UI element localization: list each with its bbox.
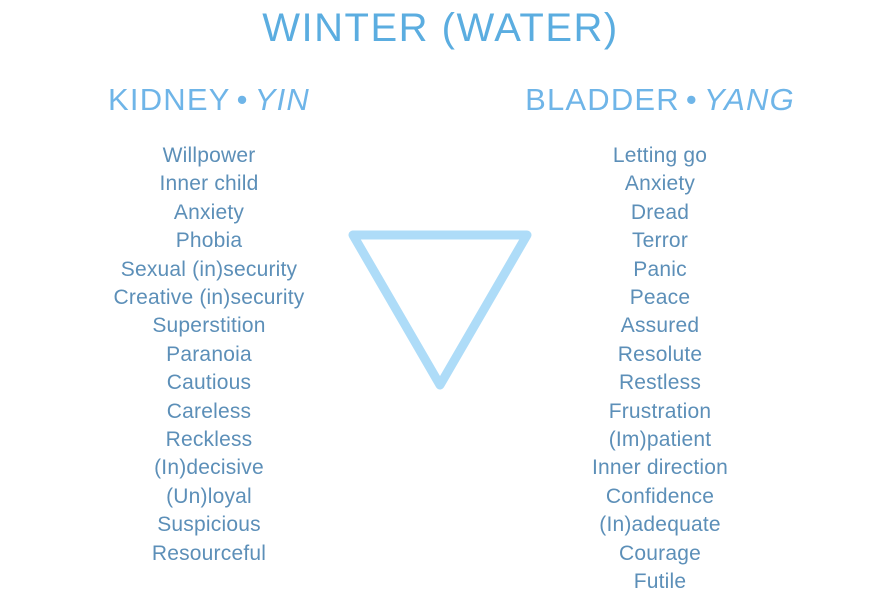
- polarity-label-yin: YIN: [255, 82, 310, 117]
- list-item: Creative (in)security: [59, 284, 359, 312]
- polarity-label-yang: YANG: [704, 82, 795, 117]
- list-item: Suspicious: [59, 511, 359, 539]
- list-item: (In)adequate: [510, 511, 810, 539]
- list-item: Peace: [510, 284, 810, 312]
- column-heading-bladder-yang: BLADDER•YANG: [510, 82, 810, 118]
- list-item: Phobia: [59, 227, 359, 255]
- list-item: Futile: [510, 568, 810, 596]
- list-item: Inner child: [59, 170, 359, 198]
- list-item: Resolute: [510, 341, 810, 369]
- word-list-kidney-yin: Willpower Inner child Anxiety Phobia Sex…: [59, 142, 359, 568]
- winter-water-poster: WINTER (WATER) KIDNEY•YIN BLADDER•YANG W…: [0, 0, 881, 601]
- list-item: (In)decisive: [59, 454, 359, 482]
- bullet-separator-icon: •: [231, 82, 255, 118]
- inverted-triangle-water-icon: [344, 226, 536, 394]
- list-item: Anxiety: [59, 199, 359, 227]
- list-item: Courage: [510, 540, 810, 568]
- list-item: Letting go: [510, 142, 810, 170]
- page-title: WINTER (WATER): [0, 6, 881, 51]
- bullet-separator-icon: •: [680, 82, 704, 118]
- list-item: Confidence: [510, 483, 810, 511]
- list-item: (Im)patient: [510, 426, 810, 454]
- list-item: (Un)loyal: [59, 483, 359, 511]
- column-heading-kidney-yin: KIDNEY•YIN: [59, 82, 359, 118]
- list-item: Terror: [510, 227, 810, 255]
- list-item: Willpower: [59, 142, 359, 170]
- list-item: Assured: [510, 312, 810, 340]
- list-item: Paranoia: [59, 341, 359, 369]
- list-item: Panic: [510, 256, 810, 284]
- list-item: Anxiety: [510, 170, 810, 198]
- list-item: Restless: [510, 369, 810, 397]
- list-item: Sexual (in)security: [59, 256, 359, 284]
- list-item: Reckless: [59, 426, 359, 454]
- list-item: Superstition: [59, 312, 359, 340]
- organ-label-bladder: BLADDER: [525, 82, 680, 117]
- word-list-bladder-yang: Letting go Anxiety Dread Terror Panic Pe…: [510, 142, 810, 597]
- list-item: Dread: [510, 199, 810, 227]
- organ-label-kidney: KIDNEY: [108, 82, 231, 117]
- list-item: Inner direction: [510, 454, 810, 482]
- triangle-outline: [353, 235, 527, 385]
- list-item: Frustration: [510, 398, 810, 426]
- list-item: Resourceful: [59, 540, 359, 568]
- list-item: Cautious: [59, 369, 359, 397]
- list-item: Careless: [59, 398, 359, 426]
